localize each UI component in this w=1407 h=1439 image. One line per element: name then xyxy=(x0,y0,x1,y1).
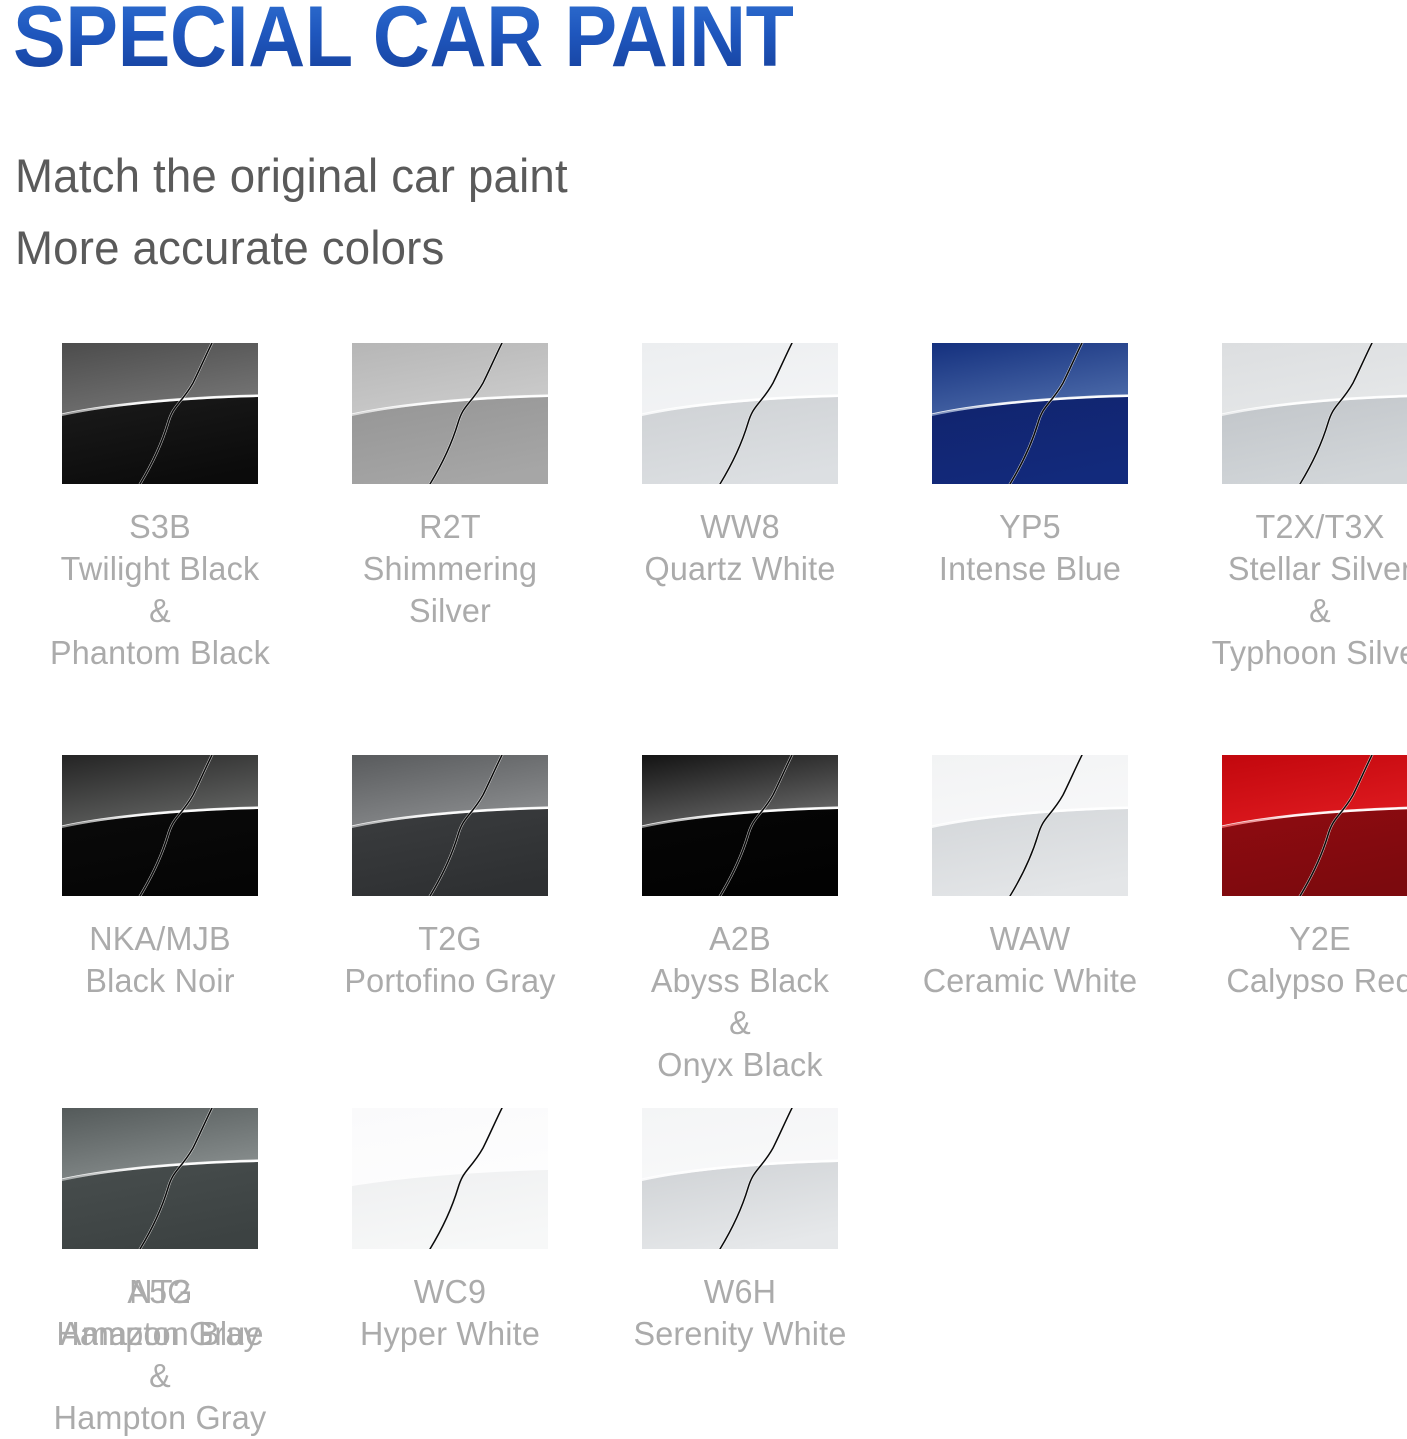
paint-name-line: Twilight Black xyxy=(18,548,302,590)
car-panel-illustration xyxy=(1222,343,1407,484)
car-panel-illustration xyxy=(352,755,548,896)
paint-name-line: Ceramic White xyxy=(888,960,1172,1002)
paint-name-line: Black Noir xyxy=(18,960,302,1002)
car-panel-illustration xyxy=(62,1108,258,1249)
subtitle-line-2: More accurate colors xyxy=(15,224,445,271)
paint-swatch-image xyxy=(932,755,1128,896)
paint-name-line: Silver xyxy=(308,590,592,632)
paint-name-line: Serenity White xyxy=(598,1313,882,1355)
paint-code: T2G xyxy=(308,918,592,960)
paint-swatch-label: A5GAmazon Gray xyxy=(18,1271,302,1355)
paint-swatch-label: T2X/T3XStellar Silver&Typhoon Silver xyxy=(1178,506,1407,674)
paint-swatch-card[interactable]: YP5Intense Blue xyxy=(885,343,1175,590)
car-panel-illustration xyxy=(932,755,1128,896)
paint-code: W6H xyxy=(598,1271,882,1313)
car-panel-illustration xyxy=(352,343,548,484)
paint-code: WC9 xyxy=(308,1271,592,1313)
paint-swatch-image xyxy=(1222,343,1407,484)
paint-swatch-label: NKA/MJBBlack Noir xyxy=(18,918,302,1002)
car-panel-illustration xyxy=(62,343,258,484)
car-panel-illustration xyxy=(642,755,838,896)
paint-code: T2X/T3X xyxy=(1178,506,1407,548)
car-panel-illustration xyxy=(932,343,1128,484)
paint-swatch-label: YP5Intense Blue xyxy=(888,506,1172,590)
page-title: SPECIAL CAR PAINT xyxy=(13,0,794,80)
paint-name-line: Onyx Black xyxy=(598,1044,882,1086)
car-panel-illustration xyxy=(1222,755,1407,896)
paint-swatch-label: T2GPortofino Gray xyxy=(308,918,592,1002)
paint-swatch-label: Y2ECalypso Red xyxy=(1178,918,1407,1002)
paint-code: A5G xyxy=(18,1271,302,1313)
car-panel-illustration xyxy=(352,1108,548,1249)
paint-swatch-card[interactable]: S3BTwilight Black&Phantom Black xyxy=(15,343,305,674)
paint-swatch-image xyxy=(352,1108,548,1249)
paint-name-line: Hampton Gray xyxy=(18,1397,302,1439)
paint-swatch-image xyxy=(62,755,258,896)
paint-code: R2T xyxy=(308,506,592,548)
paint-code: NKA/MJB xyxy=(18,918,302,960)
paint-swatch-image xyxy=(1222,755,1407,896)
paint-code: A2B xyxy=(598,918,882,960)
subtitle-line-1: Match the original car paint xyxy=(15,152,568,199)
paint-code: Y2E xyxy=(1178,918,1407,960)
paint-name-line: Portofino Gray xyxy=(308,960,592,1002)
paint-swatch-image xyxy=(642,343,838,484)
paint-name-line: & xyxy=(598,1002,882,1044)
paint-swatch-image xyxy=(932,343,1128,484)
paint-swatch-label: R2TShimmeringSilver xyxy=(308,506,592,632)
paint-name-line: Abyss Black xyxy=(598,960,882,1002)
paint-swatch-card[interactable]: NKA/MJBBlack Noir xyxy=(15,755,305,1002)
paint-code: WAW xyxy=(888,918,1172,960)
paint-swatch-label: A2BAbyss Black&Onyx Black xyxy=(598,918,882,1086)
paint-name-line: Amazon Gray xyxy=(18,1313,302,1355)
paint-name-line: & xyxy=(18,590,302,632)
paint-swatch-card[interactable]: A5GAmazon Gray xyxy=(15,1108,305,1355)
paint-name-line: Phantom Black xyxy=(18,632,302,674)
paint-swatch-card[interactable]: WAWCeramic White xyxy=(885,755,1175,1002)
paint-swatch-card[interactable]: WC9Hyper White xyxy=(305,1108,595,1355)
car-panel-illustration xyxy=(62,755,258,896)
paint-name-line: & xyxy=(1178,590,1407,632)
paint-name-line: Intense Blue xyxy=(888,548,1172,590)
paint-name-line: Quartz White xyxy=(598,548,882,590)
paint-swatch-card[interactable]: W6HSerenity White xyxy=(595,1108,885,1355)
infographic-page: SPECIAL CAR PAINT Match the original car… xyxy=(0,0,1407,1431)
paint-name-line: Shimmering xyxy=(308,548,592,590)
paint-code: S3B xyxy=(18,506,302,548)
paint-swatch-card[interactable]: R2TShimmeringSilver xyxy=(305,343,595,632)
paint-code: WW8 xyxy=(598,506,882,548)
paint-swatch-label: W6HSerenity White xyxy=(598,1271,882,1355)
paint-swatch-image xyxy=(62,343,258,484)
paint-swatch-label: S3BTwilight Black&Phantom Black xyxy=(18,506,302,674)
paint-name-line: Hyper White xyxy=(308,1313,592,1355)
paint-swatch-image xyxy=(642,755,838,896)
paint-name-line: & xyxy=(18,1355,302,1397)
paint-swatch-card[interactable]: T2X/T3XStellar Silver&Typhoon Silver xyxy=(1175,343,1407,674)
paint-swatch-card[interactable]: WW8Quartz White xyxy=(595,343,885,590)
paint-code: YP5 xyxy=(888,506,1172,548)
paint-name-line: Typhoon Silver xyxy=(1178,632,1407,674)
paint-swatch-image xyxy=(352,343,548,484)
car-panel-illustration xyxy=(642,343,838,484)
paint-swatch-label: WC9Hyper White xyxy=(308,1271,592,1355)
paint-swatch-label: WAWCeramic White xyxy=(888,918,1172,1002)
paint-swatch-card[interactable]: Y2ECalypso Red xyxy=(1175,755,1407,1002)
paint-swatch-card[interactable]: T2GPortofino Gray xyxy=(305,755,595,1002)
paint-swatch-image xyxy=(352,755,548,896)
paint-swatch-image xyxy=(642,1108,838,1249)
paint-swatch-label: WW8Quartz White xyxy=(598,506,882,590)
paint-name-line: Stellar Silver xyxy=(1178,548,1407,590)
paint-swatch-image xyxy=(62,1108,258,1249)
paint-swatch-card[interactable]: A2BAbyss Black&Onyx Black xyxy=(595,755,885,1086)
paint-name-line: Calypso Red xyxy=(1178,960,1407,1002)
car-panel-illustration xyxy=(642,1108,838,1249)
